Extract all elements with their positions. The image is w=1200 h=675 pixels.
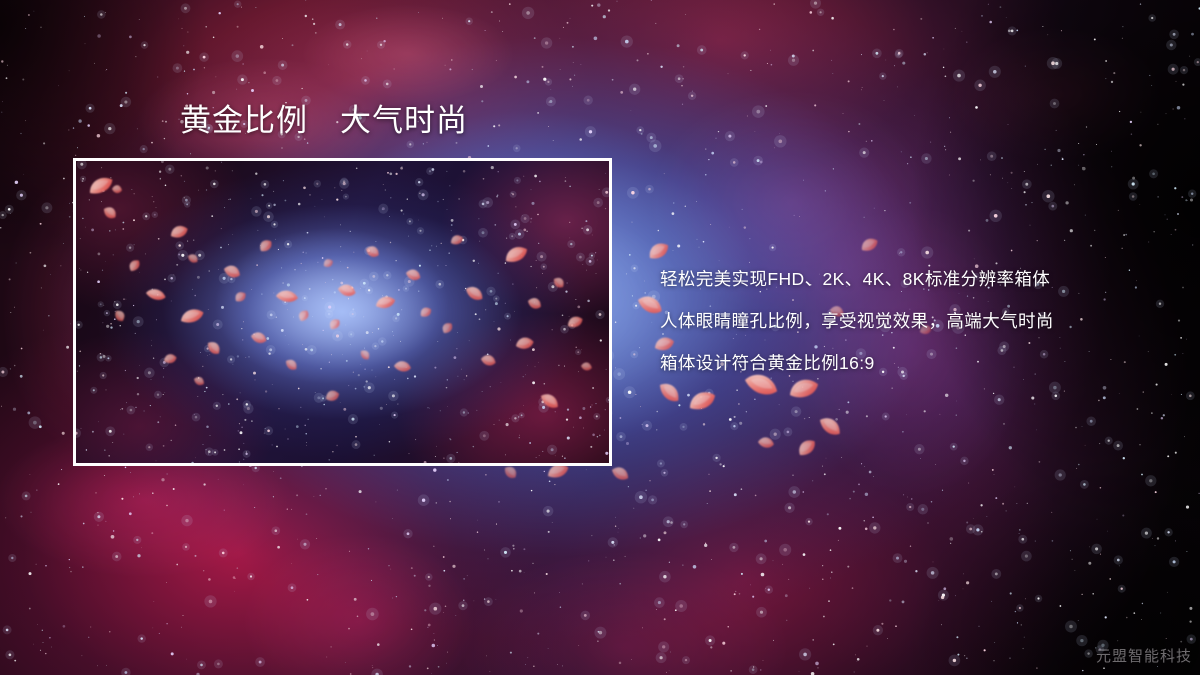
body-line-3: 箱体设计符合黄金比例16:9 (660, 342, 1160, 384)
framed-picture[interactable] (73, 158, 612, 466)
slide-title: 黄金比例 大气时尚 (180, 102, 468, 140)
watermark-label: 元盟智能科技 (1096, 645, 1192, 666)
body-line-1: 轻松完美实现FHD、2K、4K、8K标准分辨率箱体 (660, 258, 1160, 300)
body-text-block: 轻松完美实现FHD、2K、4K、8K标准分辨率箱体 人体眼睛瞳孔比例，享受视觉效… (660, 258, 1160, 384)
body-line-2: 人体眼睛瞳孔比例，享受视觉效果，高端大气时尚 (660, 300, 1160, 342)
presentation-slide: 黄金比例 大气时尚 轻松完美实现FHD、2K、4K、8K标准分辨率箱体 人体眼睛… (0, 0, 1200, 675)
floating-petals-picture (76, 161, 609, 463)
